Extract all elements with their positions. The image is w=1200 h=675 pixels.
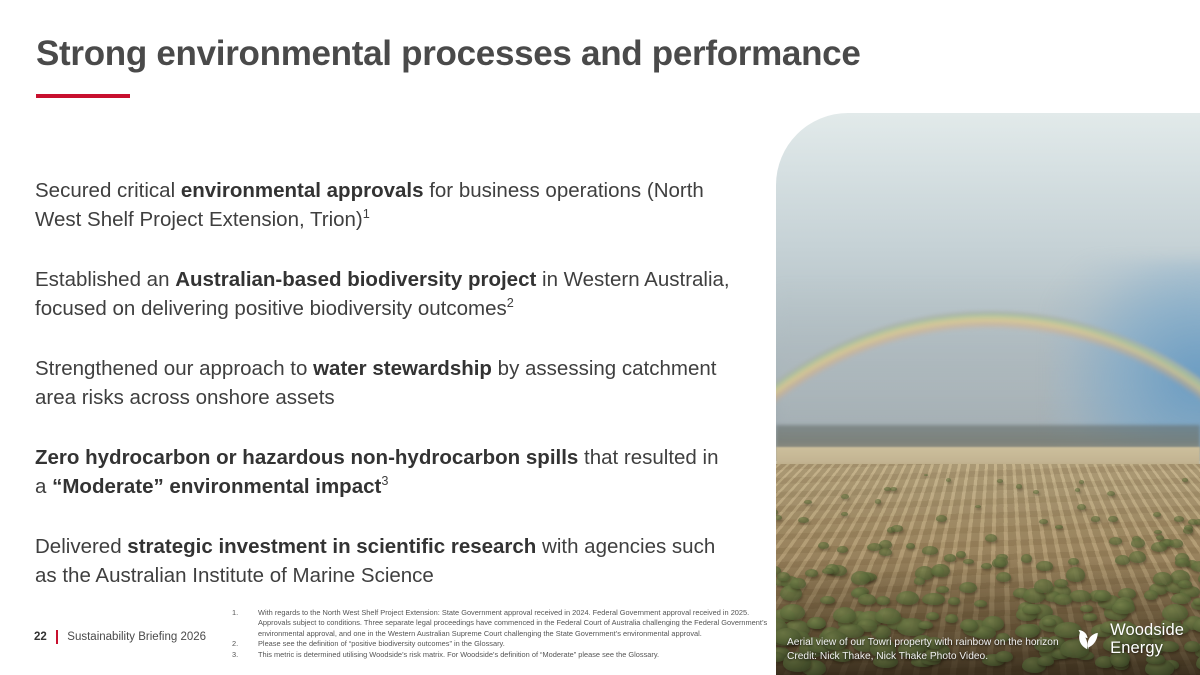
footnote-text: Please see the definition of “positive b… bbox=[258, 639, 772, 649]
page-number: 22 bbox=[34, 631, 47, 643]
shrub bbox=[1077, 504, 1086, 510]
shrub bbox=[1170, 539, 1184, 548]
shrub bbox=[807, 617, 825, 630]
shrub bbox=[875, 499, 882, 504]
footer-divider bbox=[56, 630, 59, 644]
paragraph-approvals: Secured critical environmental approvals… bbox=[35, 176, 735, 234]
footnote-number: 2. bbox=[232, 639, 258, 649]
shrub bbox=[936, 515, 947, 522]
shrub bbox=[963, 559, 974, 565]
shrub bbox=[1153, 572, 1172, 585]
footnote-number: 1. bbox=[232, 608, 258, 639]
photo-caption: Aerial view of our Towri property with r… bbox=[787, 636, 1059, 663]
shrub bbox=[822, 568, 834, 575]
footnote-item: 1. With regards to the North West Shelf … bbox=[232, 608, 772, 639]
shrub bbox=[890, 487, 897, 491]
shrub bbox=[1109, 537, 1122, 545]
shrub bbox=[1075, 488, 1080, 491]
shrub bbox=[906, 543, 915, 549]
shrub bbox=[896, 591, 919, 605]
shrub bbox=[1178, 580, 1192, 588]
shrub bbox=[798, 517, 809, 523]
paragraph-research: Delivered strategic investment in scient… bbox=[35, 532, 735, 590]
shrub bbox=[1115, 555, 1130, 565]
footnote-item: 2. Please see the definition of “positiv… bbox=[232, 639, 772, 649]
shrub bbox=[1068, 558, 1079, 566]
shrub bbox=[960, 619, 978, 631]
shrub bbox=[1022, 604, 1041, 615]
shrub bbox=[1016, 484, 1023, 489]
shrub bbox=[1184, 525, 1193, 530]
shrub bbox=[1094, 590, 1112, 602]
footnote-text: With regards to the North West Shelf Pro… bbox=[258, 608, 772, 639]
shrub bbox=[974, 600, 987, 607]
photo-caption-line1: Aerial view of our Towri property with r… bbox=[787, 636, 1059, 649]
shrub bbox=[841, 512, 848, 516]
shrub bbox=[875, 608, 901, 624]
shrub bbox=[876, 596, 889, 605]
paragraph-spills: Zero hydrocarbon or hazardous non-hydroc… bbox=[35, 443, 735, 501]
shrub bbox=[804, 500, 812, 504]
shrub bbox=[841, 494, 849, 500]
shrub bbox=[1193, 598, 1200, 604]
woodside-flame-icon bbox=[1073, 624, 1103, 655]
shrub bbox=[996, 572, 1011, 582]
shrub bbox=[1080, 605, 1093, 612]
shrub bbox=[1066, 567, 1086, 582]
shrub bbox=[914, 577, 926, 585]
shrub bbox=[1034, 579, 1053, 592]
shrub bbox=[1042, 618, 1057, 626]
footnote-text: This metric is determined utilising Wood… bbox=[258, 650, 772, 660]
shrub bbox=[1182, 478, 1187, 482]
shrub bbox=[1079, 480, 1084, 483]
shrub bbox=[1033, 490, 1039, 494]
paragraph-water: Strengthened our approach to water stewa… bbox=[35, 354, 735, 412]
body-content: Secured critical environmental approvals… bbox=[35, 176, 735, 590]
logo-line-1: Woodside bbox=[1110, 621, 1184, 639]
shrub bbox=[879, 548, 892, 556]
shrub bbox=[833, 607, 856, 623]
footnote-item: 3. This metric is determined utilising W… bbox=[232, 650, 772, 660]
shrub bbox=[1162, 604, 1188, 621]
shrub bbox=[922, 593, 945, 605]
shrub bbox=[1154, 530, 1162, 535]
shrub bbox=[858, 594, 876, 605]
shrub bbox=[818, 542, 828, 549]
shrub bbox=[780, 604, 805, 620]
photo-caption-line2: Credit: Nick Thake, Nick Thake Photo Vid… bbox=[787, 650, 1059, 663]
shrub bbox=[956, 551, 966, 558]
woodside-logo: Woodside Energy bbox=[1073, 622, 1184, 657]
shrub bbox=[1055, 525, 1063, 529]
woodside-logo-text: Woodside Energy bbox=[1110, 622, 1184, 657]
shrub bbox=[1171, 593, 1191, 604]
shrub bbox=[1083, 613, 1097, 620]
footer: 22 Sustainability Briefing 2026 bbox=[34, 630, 206, 644]
shrub bbox=[891, 525, 903, 531]
shrub bbox=[926, 612, 939, 620]
shrub bbox=[1091, 516, 1100, 521]
shrub bbox=[1054, 594, 1072, 605]
shrub bbox=[851, 571, 870, 585]
shrub bbox=[948, 597, 960, 604]
shrub bbox=[1191, 561, 1200, 572]
shrub bbox=[959, 582, 978, 593]
shrub bbox=[1131, 538, 1145, 548]
slide: Strong environmental processes and perfo… bbox=[0, 0, 1200, 675]
deck-title: Sustainability Briefing 2026 bbox=[67, 631, 206, 643]
shrub bbox=[1144, 590, 1159, 600]
shrub bbox=[1153, 512, 1161, 517]
shrub bbox=[820, 596, 835, 604]
shrub bbox=[1054, 579, 1067, 587]
shrub bbox=[1151, 542, 1166, 552]
shrub bbox=[837, 546, 848, 553]
shrub bbox=[776, 515, 782, 520]
logo-line-2: Energy bbox=[1110, 639, 1163, 657]
footnote-number: 3. bbox=[232, 650, 258, 660]
shrub bbox=[1112, 601, 1136, 614]
shrub bbox=[1175, 558, 1190, 567]
shrub bbox=[922, 546, 938, 555]
shrub bbox=[1174, 516, 1184, 522]
shrub bbox=[790, 578, 805, 589]
footnotes: 1. With regards to the North West Shelf … bbox=[232, 608, 772, 661]
shrub bbox=[1021, 554, 1033, 562]
shrub bbox=[931, 564, 950, 578]
shrub bbox=[1069, 590, 1091, 603]
title-accent-rule bbox=[36, 94, 130, 98]
shrub bbox=[1036, 561, 1052, 572]
shrub bbox=[1184, 641, 1199, 652]
shrub bbox=[997, 479, 1003, 482]
shrub bbox=[944, 554, 956, 562]
hero-photo: Aerial view of our Towri property with r… bbox=[776, 113, 1200, 675]
page-title: Strong environmental processes and perfo… bbox=[36, 34, 861, 74]
paragraph-biodiversity: Established an Australian-based biodiver… bbox=[35, 265, 735, 323]
shrub bbox=[918, 621, 933, 629]
shrub bbox=[1108, 516, 1117, 523]
